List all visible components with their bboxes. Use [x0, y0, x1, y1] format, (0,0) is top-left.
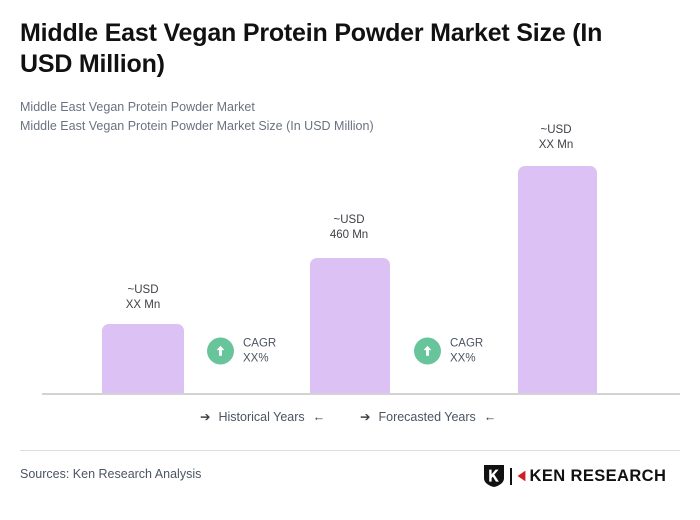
bar-value-currency-2: ~USD [309, 213, 389, 228]
period-label-forecasted: ➔ Forecasted Years ← [360, 408, 496, 426]
ken-research-shield-icon [483, 464, 505, 488]
chart-plot-area: ~USD XX Mn ~USD 460 Mn ~USD XX Mn CAGR X… [0, 0, 700, 400]
bar-historical [102, 324, 184, 394]
bar-base-year [310, 258, 390, 394]
cagr-up-arrow-icon-1 [207, 338, 234, 365]
bar-value-amount-1: XX Mn [102, 298, 184, 313]
bar-value-currency-1: ~USD [102, 283, 184, 298]
footer-divider [20, 450, 680, 451]
period-label-historical-text: Historical Years [218, 408, 304, 426]
bar-value-amount-2: 460 Mn [309, 228, 389, 243]
cagr-annotation-1: CAGR XX% [207, 337, 276, 366]
bar-forecast [518, 166, 597, 394]
brand-name: KEN RESEARCH [530, 467, 667, 486]
brand-red-triangle-icon [517, 469, 526, 483]
arrow-right-icon-forecasted: ➔ [360, 411, 370, 424]
cagr-text-2: CAGR XX% [450, 337, 483, 366]
arrow-left-icon-forecasted: ← [484, 411, 497, 424]
arrow-right-icon-historical: ➔ [200, 411, 210, 424]
brand-logo: KEN RESEARCH [483, 464, 666, 488]
x-axis-baseline [42, 393, 680, 395]
brand-divider [510, 468, 512, 485]
bar-value-label-1: ~USD XX Mn [102, 283, 184, 312]
cagr-label-2: CAGR [450, 337, 483, 352]
period-label-historical: ➔ Historical Years ← [200, 408, 325, 426]
arrow-left-icon-historical: ← [313, 411, 326, 424]
bar-value-label-3: ~USD XX Mn [515, 123, 597, 152]
period-label-row: ➔ Historical Years ← ➔ Forecasted Years … [42, 408, 680, 430]
cagr-label-1: CAGR [243, 337, 276, 352]
sources-text: Sources: Ken Research Analysis [20, 465, 201, 483]
cagr-up-arrow-icon-2 [414, 338, 441, 365]
bar-value-currency-3: ~USD [515, 123, 597, 138]
cagr-value-2: XX% [450, 351, 483, 366]
period-label-forecasted-text: Forecasted Years [378, 408, 475, 426]
cagr-annotation-2: CAGR XX% [414, 337, 483, 366]
cagr-value-1: XX% [243, 351, 276, 366]
bar-value-amount-3: XX Mn [515, 138, 597, 153]
bar-value-label-2: ~USD 460 Mn [309, 213, 389, 242]
cagr-text-1: CAGR XX% [243, 337, 276, 366]
